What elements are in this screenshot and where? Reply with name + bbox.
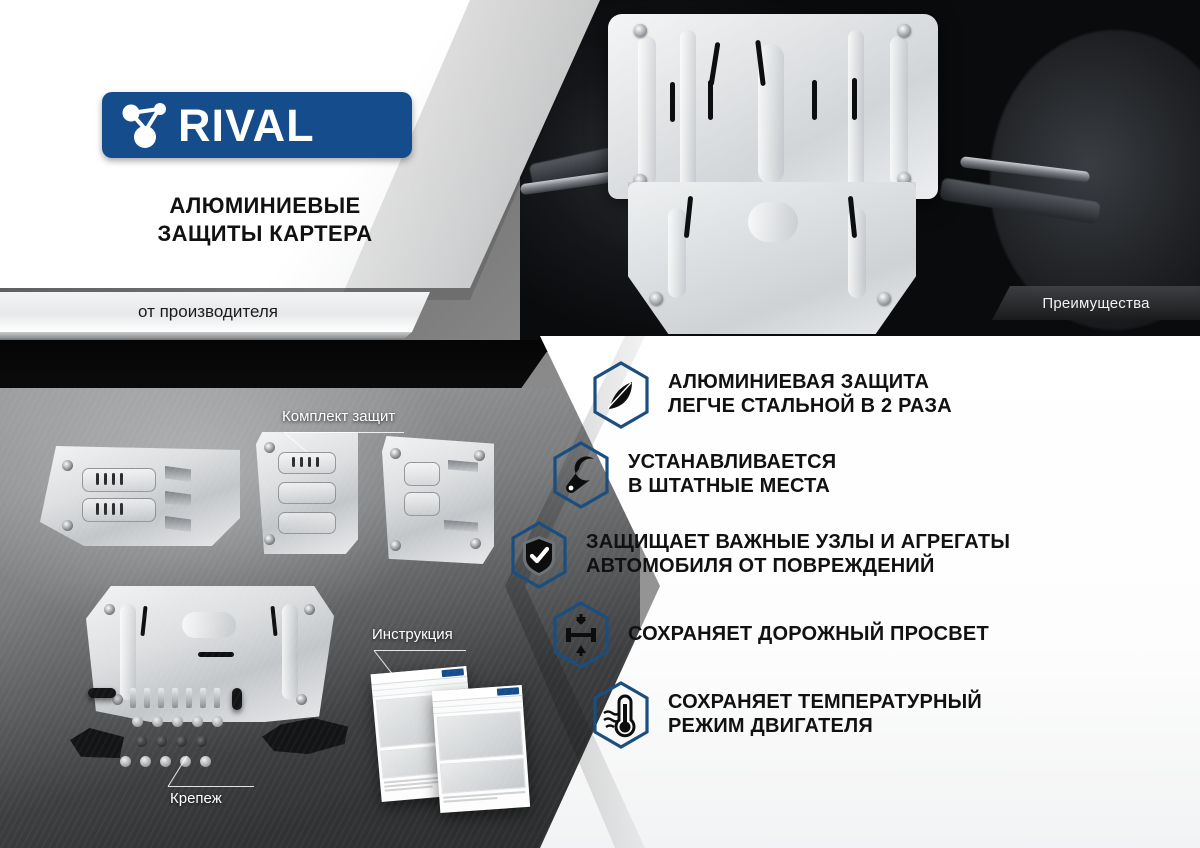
skid-plate-right <box>382 436 494 564</box>
brand-logo: RIVAL <box>102 92 412 158</box>
skid-plate-large-front <box>86 586 334 722</box>
benefit-line1: СОХРАНЯЕТ ТЕМПЕРАТУРНЫЙ <box>668 691 982 715</box>
benefit-item-temperature: СОХРАНЯЕТ ТЕМПЕРАТУРНЫЙ РЕЖИМ ДВИГАТЕЛЯ <box>590 680 1200 750</box>
product-stage: Комплект защит Инструкция Крепеж <box>0 388 640 848</box>
benefit-line2: ЛЕГЧЕ СТАЛЬНОЙ В 2 РАЗА <box>668 395 952 419</box>
stage-lighting <box>0 388 460 638</box>
leaf-icon <box>590 360 652 430</box>
skid-plate-mid <box>256 432 358 554</box>
benefit-item-fitment: УСТАНАВЛИВАЕТСЯ В ШТАТНЫЕ МЕСТА <box>550 440 1200 510</box>
benefit-text-protection: ЗАЩИЩАЕТ ВАЖНЫЕ УЗЛЫ И АГРЕГАТЫ АВТОМОБИ… <box>586 531 1010 578</box>
page-title-line1: АЛЮМИНИЕВЫЕ <box>100 192 430 220</box>
installed-skid-plate-upper <box>608 14 938 199</box>
callout-fasteners-label: Крепеж <box>170 790 222 807</box>
benefit-line2: РЕЖИМ ДВИГАТЕЛЯ <box>668 715 982 739</box>
benefit-line2: АВТОМОБИЛЯ ОТ ПОВРЕЖДЕНИЙ <box>586 555 1010 579</box>
benefit-text-fitment: УСТАНАВЛИВАЕТСЯ В ШТАТНЫЕ МЕСТА <box>628 451 836 498</box>
advantages-tag-label: Преимущества <box>1042 295 1149 312</box>
shield-check-icon <box>508 520 570 590</box>
molecule-icon <box>114 100 176 150</box>
benefit-item-clearance: СОХРАНЯЕТ ДОРОЖНЫЙ ПРОСВЕТ <box>550 600 1200 670</box>
poster-root: Преимущества RIVAL АЛЮМИНИЕВЫЕ ЗАЩИТЫ КА… <box>0 0 1200 848</box>
wrench-icon <box>550 440 612 510</box>
page-title: АЛЮМИНИЕВЫЕ ЗАЩИТЫ КАРТЕРА <box>100 192 430 248</box>
benefits-list: АЛЮМИНИЕВАЯ ЗАЩИТА ЛЕГЧЕ СТАЛЬНОЙ В 2 РА… <box>590 360 1200 760</box>
benefit-line1: СОХРАНЯЕТ ДОРОЖНЫЙ ПРОСВЕТ <box>628 623 989 647</box>
benefit-item-protection: ЗАЩИЩАЕТ ВАЖНЫЕ УЗЛЫ И АГРЕГАТЫ АВТОМОБИ… <box>508 520 1200 590</box>
ground-clearance-icon <box>550 600 612 670</box>
instruction-sheet-back <box>432 685 530 813</box>
benefit-line1: УСТАНАВЛИВАЕТСЯ <box>628 451 836 475</box>
skid-plate-wide <box>40 446 240 546</box>
subtitle-band: от производителя <box>0 292 430 332</box>
page-title-line2: ЗАЩИТЫ КАРТЕРА <box>100 220 430 248</box>
thermometer-icon <box>590 680 652 750</box>
benefit-text-temperature: СОХРАНЯЕТ ТЕМПЕРАТУРНЫЙ РЕЖИМ ДВИГАТЕЛЯ <box>668 691 982 738</box>
benefit-line1: АЛЮМИНИЕВАЯ ЗАЩИТА <box>668 371 952 395</box>
benefit-item-weight: АЛЮМИНИЕВАЯ ЗАЩИТА ЛЕГЧЕ СТАЛЬНОЙ В 2 РА… <box>590 360 1200 430</box>
callout-kit-label: Комплект защит <box>282 408 395 425</box>
benefit-line2: В ШТАТНЫЕ МЕСТА <box>628 475 836 499</box>
brand-wordmark: RIVAL <box>178 103 315 148</box>
benefit-text-clearance: СОХРАНЯЕТ ДОРОЖНЫЙ ПРОСВЕТ <box>628 623 989 647</box>
installed-skid-plate-lower <box>628 182 916 334</box>
subtitle-text: от производителя <box>138 302 292 322</box>
advantages-tag: Преимущества <box>992 286 1200 320</box>
black-divider-strip <box>0 340 560 390</box>
benefit-text-weight: АЛЮМИНИЕВАЯ ЗАЩИТА ЛЕГЧЕ СТАЛЬНОЙ В 2 РА… <box>668 371 952 418</box>
callout-instruction-label: Инструкция <box>372 626 453 643</box>
instruction-sheet-front <box>371 666 478 802</box>
benefit-line1: ЗАЩИЩАЕТ ВАЖНЫЕ УЗЛЫ И АГРЕГАТЫ <box>586 531 1010 555</box>
